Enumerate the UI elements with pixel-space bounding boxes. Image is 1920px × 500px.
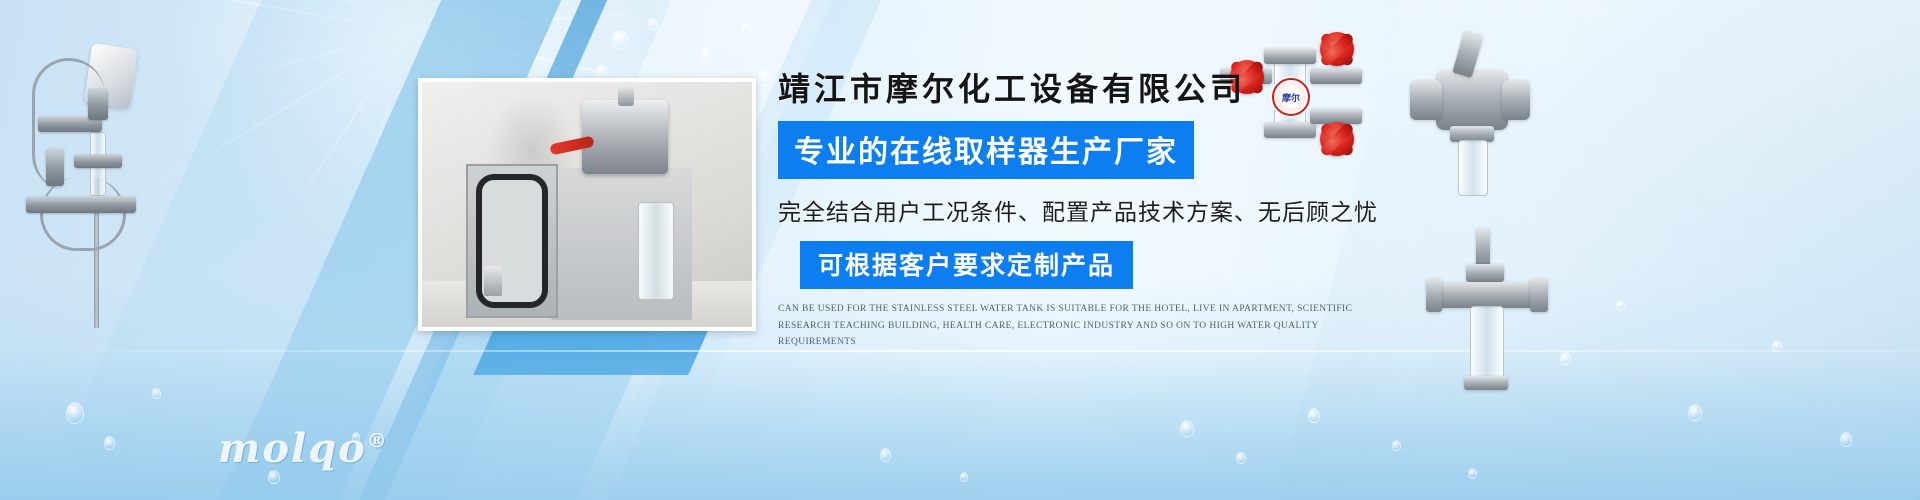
text-block: 靖江市摩尔化工设备有限公司 专业的在线取样器生产厂家 完全结合用户工况条件、配置… bbox=[778, 72, 1398, 351]
bonnet bbox=[1466, 264, 1504, 282]
top-valve-assembly bbox=[582, 100, 668, 174]
valve-block-mid bbox=[74, 154, 122, 168]
cabinet-door bbox=[466, 164, 558, 318]
top-flange bbox=[1264, 48, 1316, 64]
company-name: 靖江市摩尔化工设备有限公司 bbox=[778, 72, 1398, 107]
callout-highlight: 可根据客户要求定制产品 bbox=[800, 241, 1133, 289]
sample-bottle bbox=[638, 202, 674, 300]
door-latch bbox=[484, 266, 502, 296]
port-left bbox=[1426, 278, 1442, 312]
valve-knob bbox=[618, 86, 634, 106]
subline: 完全结合用户工况条件、配置产品技术方案、无后顾之忧 bbox=[778, 193, 1398, 227]
water-droplet bbox=[1772, 340, 1782, 352]
port-right bbox=[1530, 278, 1548, 312]
watermark-text: molqo bbox=[218, 425, 367, 472]
water-droplet bbox=[742, 22, 751, 33]
water-droplet bbox=[960, 472, 968, 482]
sample-glass bbox=[1470, 306, 1504, 382]
water-droplet bbox=[1392, 440, 1401, 451]
water-droplet bbox=[1840, 432, 1852, 447]
water-droplet bbox=[1180, 420, 1194, 437]
water-droplet bbox=[1308, 408, 1320, 423]
valve-block-lower bbox=[26, 196, 136, 213]
water-droplet bbox=[880, 448, 891, 462]
flange-left bbox=[1410, 80, 1442, 120]
outlet-tube bbox=[40, 178, 126, 251]
water-droplet bbox=[1560, 352, 1571, 365]
center-product-photo bbox=[418, 78, 756, 331]
water-droplet bbox=[612, 30, 628, 50]
water-droplet bbox=[66, 402, 84, 424]
handwheel-top bbox=[1320, 32, 1354, 66]
water-droplet bbox=[596, 64, 607, 77]
water-droplet bbox=[1688, 404, 1702, 421]
stem bbox=[1476, 228, 1490, 268]
relief-valve bbox=[46, 148, 64, 186]
left-equipment-image bbox=[10, 28, 180, 328]
right-upper-equipment-image bbox=[1410, 28, 1530, 208]
watermark-logo: molqo® bbox=[218, 425, 389, 472]
water-droplet bbox=[648, 18, 658, 30]
body-horizontal bbox=[1436, 282, 1534, 308]
water-droplet bbox=[1236, 452, 1246, 464]
water-droplet bbox=[268, 470, 280, 484]
water-droplet bbox=[700, 48, 712, 63]
water-droplet bbox=[152, 388, 161, 399]
fineprint-text: CAN BE USED FOR THE STAINLESS STEEL WATE… bbox=[778, 301, 1378, 351]
photo-inner bbox=[422, 82, 752, 327]
headline-row: 专业的在线取样器生产厂家 bbox=[778, 121, 1398, 179]
connector bbox=[88, 88, 108, 120]
right-lower-equipment-image bbox=[1426, 228, 1556, 398]
product-banner: 摩尔 靖江市摩尔化工设备有限公司 专业的在线取样器生产厂家 完全结合用户工况条件… bbox=[0, 0, 1920, 500]
flange-right bbox=[1502, 80, 1530, 120]
water-droplet bbox=[104, 436, 115, 450]
water-droplet bbox=[758, 70, 771, 86]
glass-vial bbox=[1458, 140, 1488, 196]
water-droplet bbox=[1616, 300, 1625, 311]
callout-row: 可根据客户要求定制产品 bbox=[800, 241, 1398, 289]
valve-body bbox=[1436, 70, 1508, 130]
registered-mark-icon: ® bbox=[367, 429, 389, 453]
water-droplet bbox=[1468, 468, 1477, 479]
base-collar bbox=[1464, 376, 1508, 390]
headline-highlight: 专业的在线取样器生产厂家 bbox=[778, 121, 1194, 179]
